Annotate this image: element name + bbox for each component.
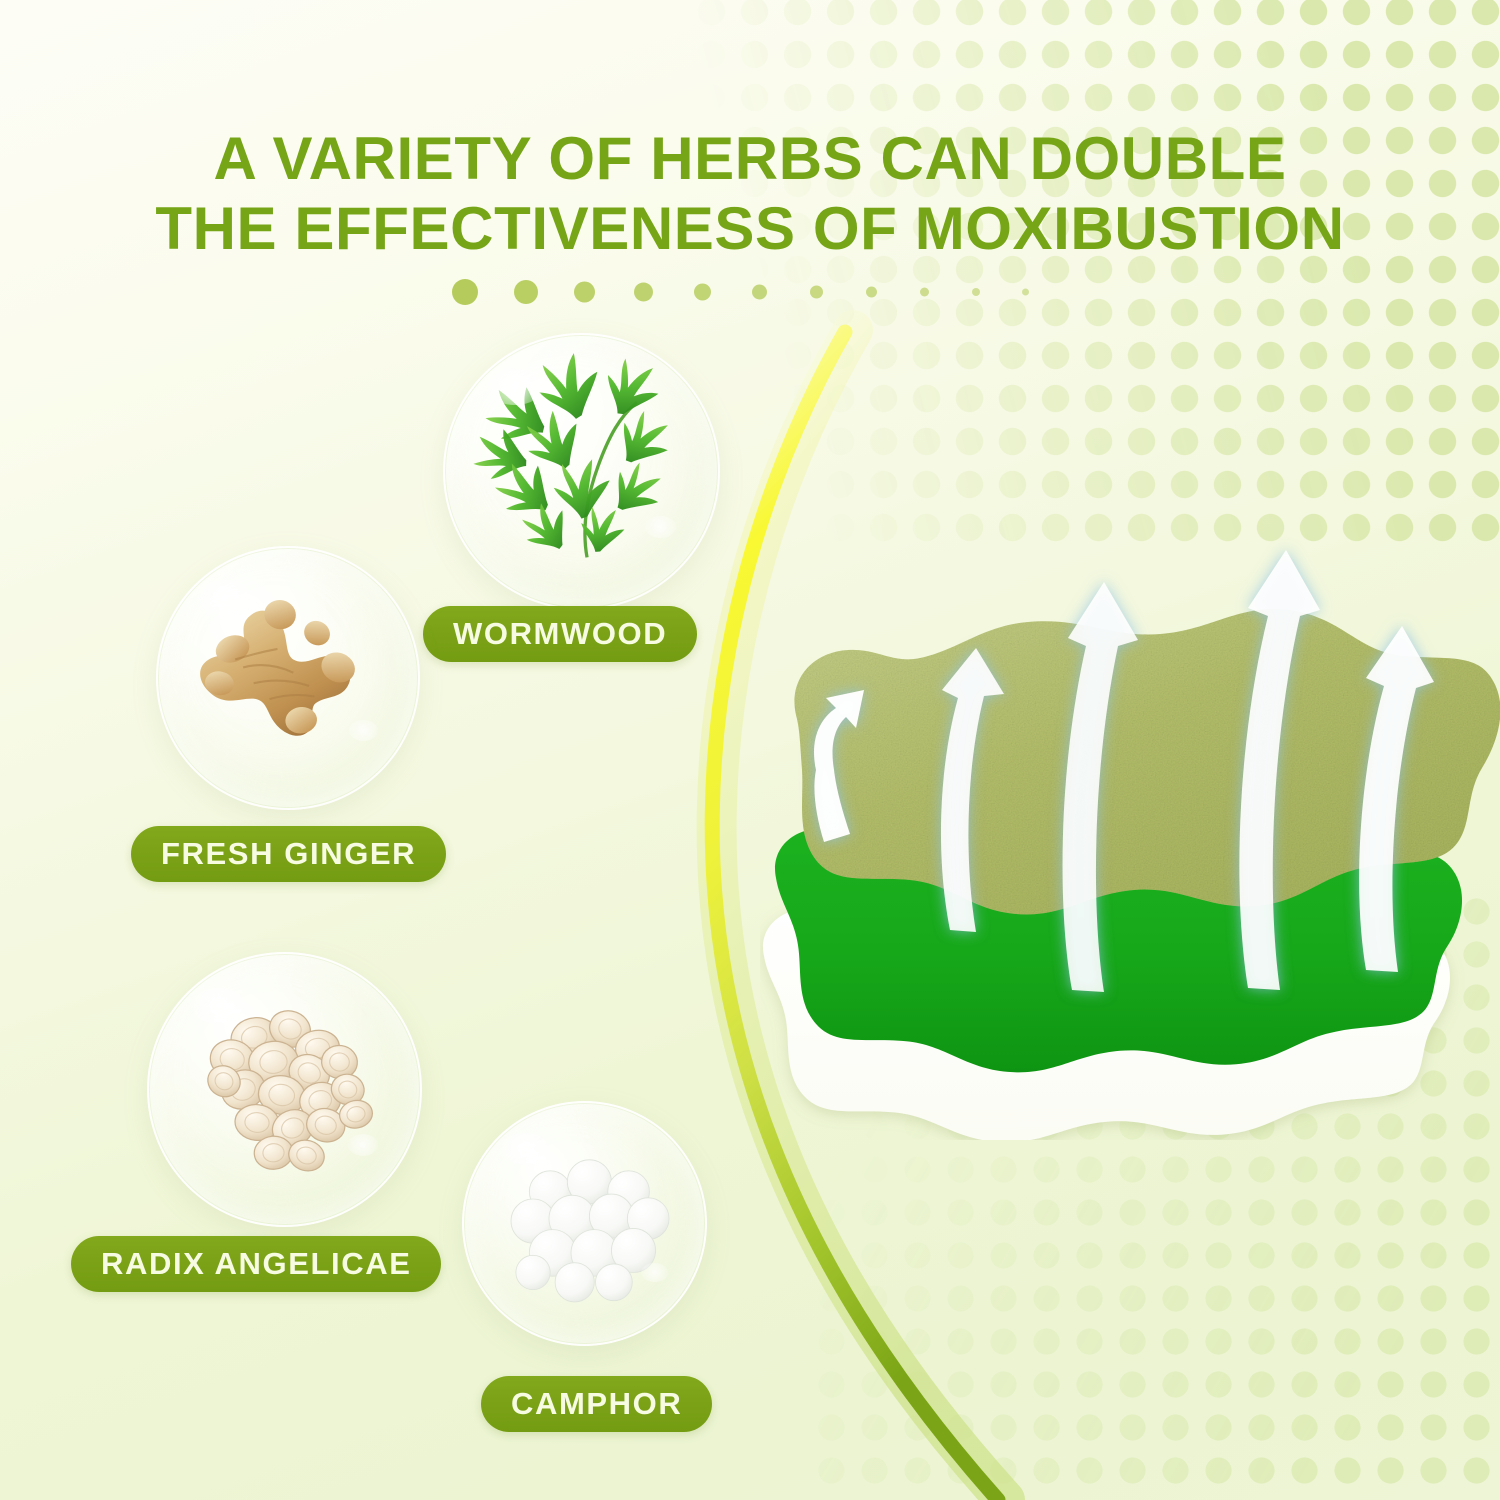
- ingredient-label-wormwood: WORMWOOD: [423, 606, 697, 662]
- accent-dot: [574, 282, 595, 303]
- camphor-balls-icon: [462, 1101, 707, 1346]
- infographic-poster: A VARIETY OF HERBS CAN DOUBLE THE EFFECT…: [0, 0, 1500, 1500]
- accent-dot: [514, 280, 538, 304]
- headline-line-2: THE EFFECTIVENESS OF MOXIBUSTION: [0, 194, 1500, 264]
- ingredient-bubble-radix-angelicae[interactable]: [147, 952, 422, 1227]
- accent-dot: [634, 283, 653, 302]
- ingredient-label-camphor: CAMPHOR: [481, 1376, 712, 1432]
- accent-dot: [810, 286, 823, 299]
- wormwood-sprig-icon: [443, 333, 720, 610]
- ginger-root-icon: [156, 546, 420, 810]
- accent-dot: [694, 284, 711, 301]
- accent-dot: [1022, 289, 1029, 296]
- moxibustion-patch-layers: [760, 520, 1500, 1140]
- accent-dot: [452, 279, 478, 305]
- page-title: A VARIETY OF HERBS CAN DOUBLE THE EFFECT…: [0, 124, 1500, 263]
- ingredient-bubble-fresh-ginger[interactable]: [156, 546, 420, 810]
- accent-dot: [752, 285, 767, 300]
- headline-line-1: A VARIETY OF HERBS CAN DOUBLE: [213, 125, 1286, 192]
- accent-dot-row: [452, 272, 1092, 312]
- accent-dot: [972, 288, 980, 296]
- ingredient-label-radix-angelicae: RADIX ANGELICAE: [71, 1236, 441, 1292]
- accent-dot: [920, 288, 929, 297]
- ingredient-bubble-wormwood[interactable]: [443, 333, 720, 610]
- ingredient-label-fresh-ginger: FRESH GINGER: [131, 826, 446, 882]
- ingredient-bubble-camphor[interactable]: [462, 1101, 707, 1346]
- accent-dot: [866, 287, 877, 298]
- dried-root-slices-icon: [147, 952, 422, 1227]
